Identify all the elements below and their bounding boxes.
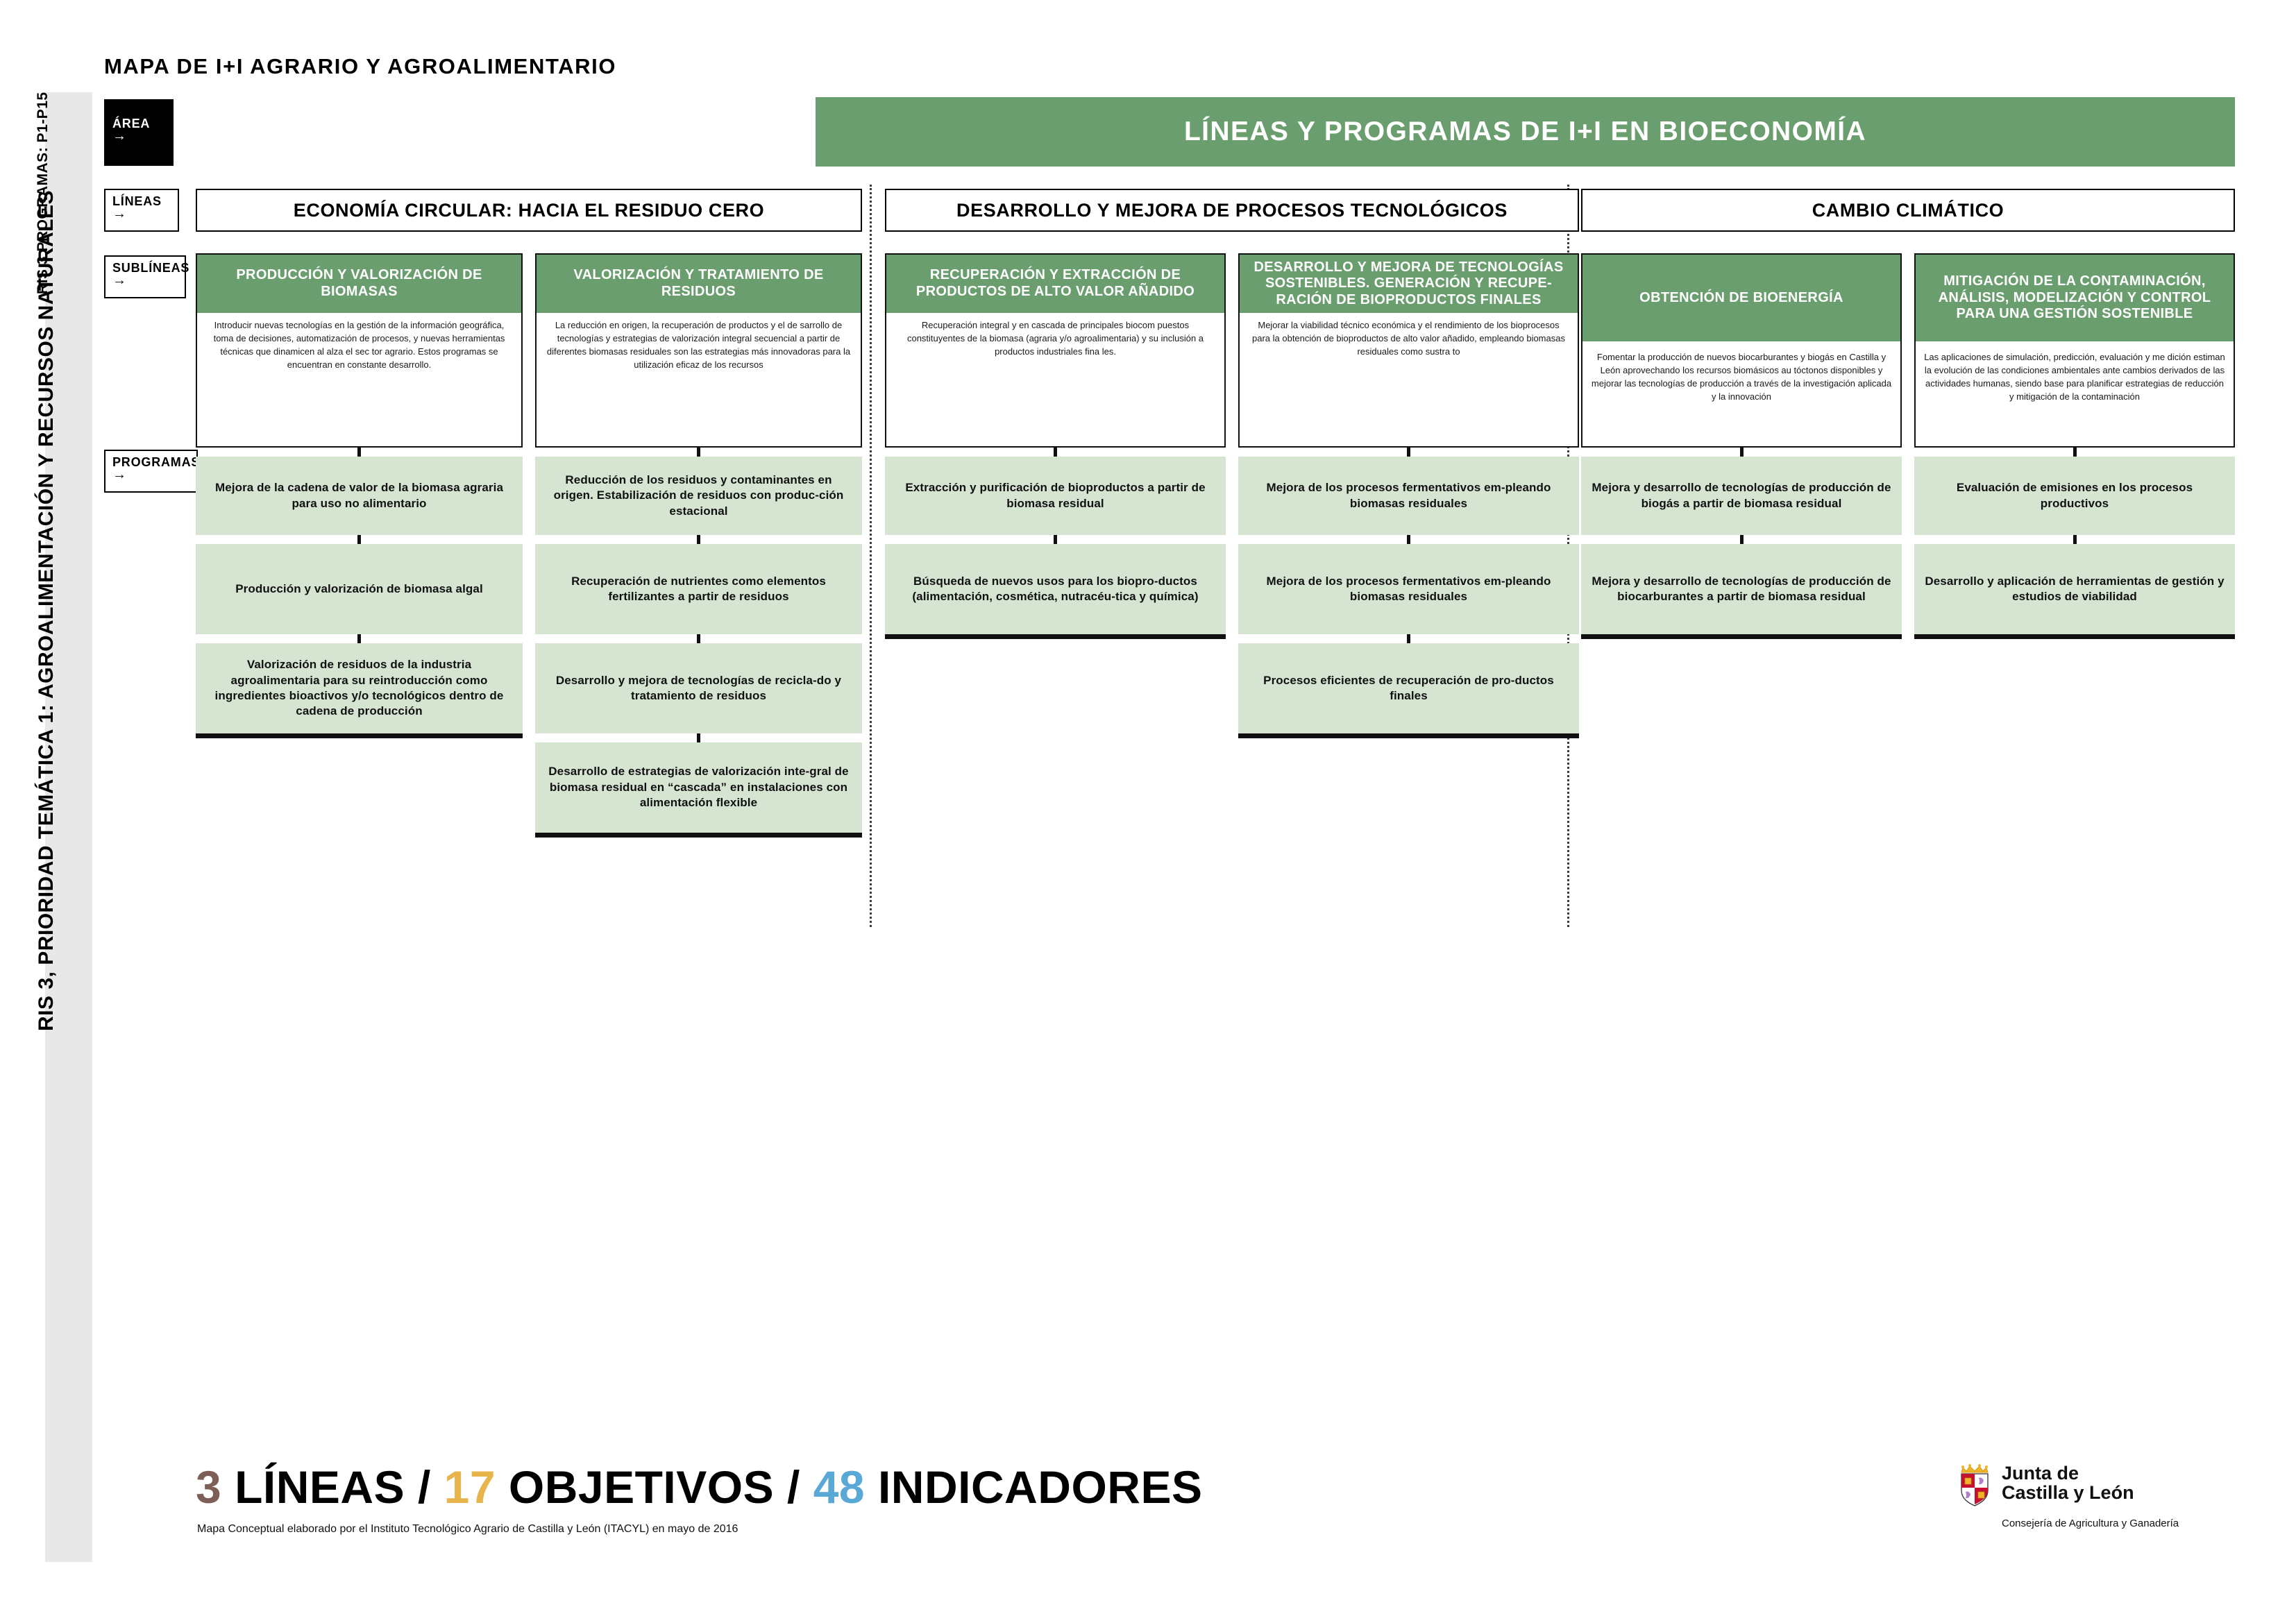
program-label: Extracción y purificación de bioproducto… [895,480,1216,511]
linea-title: CAMBIO CLIMÁTICO [1812,200,2004,221]
subline-card-header: MITIGACIÓN DE LA CONTAMINACIÓN, ANÁLISIS… [1916,255,2234,341]
program-label: Mejora y desarrollo de tecnologías de pr… [1591,574,1892,605]
connector-line [1054,448,1057,457]
logo-line-2: Castilla y León [2002,1484,2134,1503]
connector-line [357,634,361,643]
connector-line [697,448,700,457]
subline-card-header: VALORIZACIÓN Y TRATAMIENTO DE RESIDUOS [537,255,861,313]
logo-subtitle: Consejería de Agricultura y Ganadería [2002,1518,2221,1529]
program-label: Evaluación de emisiones en los procesos … [1924,480,2225,511]
program-label: Mejora de los procesos fermentativos em-… [1248,574,1569,605]
connector-line [1407,535,1410,544]
connector-line [2073,535,2077,544]
program-box[interactable]: Mejora de la cadena de valor de la bioma… [196,457,523,535]
subline-card-header: OBTENCIÓN DE BIOENERGÍA [1582,255,1900,341]
subline-title: RECUPERACIÓN Y EXTRACCIÓN DE PRODUCTOS D… [893,267,1217,300]
sublinea-row: RECUPERACIÓN Y EXTRACCIÓN DE PRODUCTOS D… [885,253,1579,738]
subcol-mitigacion-contaminacion: MITIGACIÓN DE LA CONTAMINACIÓN, ANÁLISIS… [1914,253,2235,639]
program-label: Mejora y desarrollo de tecnologías de pr… [1591,480,1892,511]
subcol-valorizacion-tratamiento-residuos: VALORIZACIÓN Y TRATAMIENTO DE RESIDUOS L… [535,253,862,838]
subline-card[interactable]: VALORIZACIÓN Y TRATAMIENTO DE RESIDUOS L… [535,253,862,448]
subline-description-text: Mejorar la viabilidad técnico económica … [1248,319,1569,359]
connector-line [1407,448,1410,457]
column-separator [870,185,872,927]
column-baseline [1238,733,1579,738]
subline-description-text: La reducción en origen, la recuperación … [545,319,852,371]
subline-description-text: Introducir nuevas tecnologías en la gest… [205,319,513,371]
linea-header[interactable]: ECONOMÍA CIRCULAR: HACIA EL RESIDUO CERO [196,189,862,232]
program-box[interactable]: Procesos eficientes de recuperación de p… [1238,643,1579,733]
subline-card[interactable]: PRODUCCIÓN Y VALORIZACIÓN DE BIOMASAS In… [196,253,523,448]
program-label: Procesos eficientes de recuperación de p… [1248,673,1569,704]
stat-objetivos-word: OBJETIVOS [509,1461,774,1513]
subline-title: OBTENCIÓN DE BIOENERGÍA [1639,290,1843,307]
stat-lineas-word: LÍNEAS [235,1461,405,1513]
subline-card[interactable]: OBTENCIÓN DE BIOENERGÍA Fomentar la prod… [1581,253,1902,448]
connector-line [357,535,361,544]
row-label-lineas: LÍNEAS → [104,189,179,232]
connector-line [697,535,700,544]
program-label: Desarrollo y aplicación de herramientas … [1924,574,2225,605]
program-box[interactable]: Mejora y desarrollo de tecnologías de pr… [1581,457,1902,535]
connector-line [1407,634,1410,643]
area-header-band: LÍNEAS Y PROGRAMAS DE I+I EN BIOECONOMÍA [816,97,2235,167]
subline-description-text: Las aplicaciones de simulación, predicci… [1924,351,2225,403]
column-baseline [1914,634,2235,639]
linea-group-procesos-tecnologicos: DESARROLLO Y MEJORA DE PROCESOS TECNOLÓG… [885,189,1579,738]
subline-card-header: DESARROLLO Y MEJORA DE TECNOLOGÍAS SOSTE… [1240,255,1578,313]
row-label-programas: PROGRAMAS → [104,450,198,493]
program-label: Desarrollo de estrategias de valorizació… [545,764,852,810]
arrow-right-icon: → [112,208,178,220]
subline-title: MITIGACIÓN DE LA CONTAMINACIÓN, ANÁLISIS… [1923,273,2227,323]
stat-indicadores-word: INDICADORES [878,1461,1203,1513]
subcol-recuperacion-extraccion: RECUPERACIÓN Y EXTRACCIÓN DE PRODUCTOS D… [885,253,1226,738]
sublinea-row: OBTENCIÓN DE BIOENERGÍA Fomentar la prod… [1581,253,2235,639]
footer-stats: 3 LÍNEAS / 17 OBJETIVOS / 48 INDICADORES [196,1461,1203,1513]
program-box[interactable]: Desarrollo y aplicación de herramientas … [1914,544,2235,634]
subline-card-description: La reducción en origen, la recuperación … [537,313,861,446]
subline-card[interactable]: RECUPERACIÓN Y EXTRACCIÓN DE PRODUCTOS D… [885,253,1226,448]
column-baseline [885,634,1226,639]
stat-separator: / [418,1461,431,1513]
program-label: Valorización de residuos de la industria… [205,657,513,720]
program-box[interactable]: Extracción y purificación de bioproducto… [885,457,1226,535]
program-box[interactable]: Desarrollo de estrategias de valorizació… [535,742,862,833]
coat-of-arms-icon [1957,1464,1992,1511]
subline-description-text: Recuperación integral y en cascada de pr… [895,319,1216,359]
stat-objetivos-number: 17 [444,1461,496,1513]
arrow-right-icon: → [112,275,185,287]
area-header-title: LÍNEAS Y PROGRAMAS DE I+I EN BIOECONOMÍA [1184,117,1866,147]
row-label-sublineas: SUBLÍNEAS → [104,255,186,298]
subcol-produccion-valorizacion-biomasas: PRODUCCIÓN Y VALORIZACIÓN DE BIOMASAS In… [196,253,523,838]
rail-priority-label: RIS 3, PRIORIDAD TEMÁTICA 1: AGROALIMENT… [35,190,58,1031]
program-label: Mejora de la cadena de valor de la bioma… [205,480,513,511]
connector-line [2073,448,2077,457]
connector-line [1054,535,1057,544]
connector-line [697,634,700,643]
column-baseline [196,733,523,738]
connector-line [1740,535,1744,544]
column-baseline [1581,634,1902,639]
linea-group-cambio-climatico: CAMBIO CLIMÁTICO OBTENCIÓN DE BIOENERGÍA… [1581,189,2235,639]
linea-title: DESARROLLO Y MEJORA DE PROCESOS TECNOLÓG… [956,200,1508,221]
connector-line [357,448,361,457]
subcol-tecnologias-sostenibles: DESARROLLO Y MEJORA DE TECNOLOGÍAS SOSTE… [1238,253,1579,738]
program-label: Búsqueda de nuevos usos para los biopro-… [895,574,1216,605]
program-label: Mejora de los procesos fermentativos em-… [1248,480,1569,511]
linea-title: ECONOMÍA CIRCULAR: HACIA EL RESIDUO CERO [294,200,765,221]
subline-title: VALORIZACIÓN Y TRATAMIENTO DE RESIDUOS [543,267,854,300]
subline-description-text: Fomentar la producción de nuevos biocarb… [1591,351,1892,403]
program-box[interactable]: Mejora y desarrollo de tecnologías de pr… [1581,544,1902,634]
page-title: MAPA DE I+I AGRARIO Y AGROALIMENTARIO [104,54,616,79]
subline-title: PRODUCCIÓN Y VALORIZACIÓN DE BIOMASAS [204,267,514,300]
subline-card-description: Fomentar la producción de nuevos biocarb… [1582,341,1900,446]
program-box[interactable]: Reducción de los residuos y contaminante… [535,457,862,535]
arrow-right-icon: → [112,130,174,142]
connector-line [697,733,700,742]
subline-card-description: Las aplicaciones de simulación, predicci… [1916,341,2234,446]
program-label: Producción y valorización de biomasa alg… [235,581,483,597]
subline-card-header: RECUPERACIÓN Y EXTRACCIÓN DE PRODUCTOS D… [886,255,1224,313]
subline-card-description: Mejorar la viabilidad técnico económica … [1240,313,1578,446]
subline-card-description: Recuperación integral y en cascada de pr… [886,313,1224,446]
subcol-obtencion-bioenergia: OBTENCIÓN DE BIOENERGÍA Fomentar la prod… [1581,253,1902,639]
program-box[interactable]: Evaluación de emisiones en los procesos … [1914,457,2235,535]
program-box[interactable]: Mejora de los procesos fermentativos em-… [1238,457,1579,535]
connector-line [1740,448,1744,457]
subline-card-header: PRODUCCIÓN Y VALORIZACIÓN DE BIOMASAS [197,255,521,313]
program-label: Reducción de los residuos y contaminante… [545,473,852,519]
subline-card[interactable]: MITIGACIÓN DE LA CONTAMINACIÓN, ANÁLISIS… [1914,253,2235,448]
stat-lineas-number: 3 [196,1461,221,1513]
junta-castilla-leon-logo: Junta de Castilla y León Consejería de A… [1957,1464,2221,1529]
linea-header[interactable]: CAMBIO CLIMÁTICO [1581,189,2235,232]
program-box[interactable]: Búsqueda de nuevos usos para los biopro-… [885,544,1226,634]
program-box[interactable]: Producción y valorización de biomasa alg… [196,544,523,634]
program-box[interactable]: Mejora de los procesos fermentativos em-… [1238,544,1579,634]
logo-line-1: Junta de [2002,1464,2134,1484]
program-label: Desarrollo y mejora de tecnologías de re… [545,673,852,704]
program-box[interactable]: Valorización de residuos de la industria… [196,643,523,733]
column-baseline [535,833,862,838]
linea-group-economia-circular: ECONOMÍA CIRCULAR: HACIA EL RESIDUO CERO… [196,189,862,838]
arrow-right-icon: → [112,469,196,481]
stat-indicadores-number: 48 [813,1461,865,1513]
program-label: Recuperación de nutrientes como elemento… [545,574,852,605]
linea-header[interactable]: DESARROLLO Y MEJORA DE PROCESOS TECNOLÓG… [885,189,1579,232]
program-box[interactable]: Desarrollo y mejora de tecnologías de re… [535,643,862,733]
footer-note: Mapa Conceptual elaborado por el Institu… [197,1523,738,1536]
subline-title: DESARROLLO Y MEJORA DE TECNOLOGÍAS SOSTE… [1247,260,1571,309]
stat-separator: / [787,1461,800,1513]
subline-card[interactable]: DESARROLLO Y MEJORA DE TECNOLOGÍAS SOSTE… [1238,253,1579,448]
sublinea-row: PRODUCCIÓN Y VALORIZACIÓN DE BIOMASAS In… [196,253,862,838]
subline-card-description: Introducir nuevas tecnologías en la gest… [197,313,521,446]
program-box[interactable]: Recuperación de nutrientes como elemento… [535,544,862,634]
row-label-area: ÁREA → [104,99,174,166]
